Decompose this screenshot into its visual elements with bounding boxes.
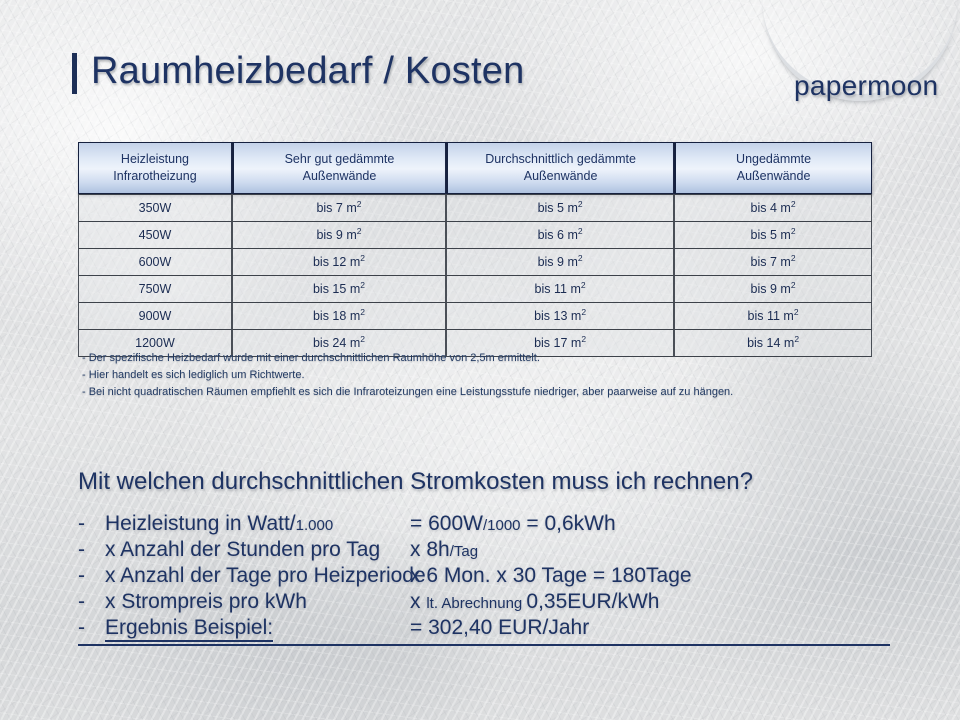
column-header-heizleistung: Heizleistung Infrarotheizung xyxy=(78,142,232,194)
title-accent-bar xyxy=(72,53,77,94)
table-cell-poor: bis 5 m2 xyxy=(674,222,872,249)
column-header-line2: Außenwände xyxy=(452,168,669,185)
bullet-dash: - xyxy=(78,564,105,588)
table-cell-avg: bis 11 m2 xyxy=(446,276,674,303)
bullet-dash: - xyxy=(78,538,105,562)
calculation-value-small: /1000 xyxy=(483,517,521,534)
table-row: 350Wbis 7 m2bis 5 m2bis 4 m2 xyxy=(78,194,872,222)
column-header-durchschnittlich-gedaemmte: Durchschnittlich gedämmte Außenwände xyxy=(446,142,674,194)
table-row: 450Wbis 9 m2bis 6 m2bis 5 m2 xyxy=(78,222,872,249)
calculation-value-small: /Tag xyxy=(450,543,478,560)
table-cell-power: 600W xyxy=(78,249,232,276)
calculation-value-small: lt. Abrechnung xyxy=(426,595,526,612)
calculation-list: -Heizleistung in Watt/1.000= 600W/1000 =… xyxy=(78,512,890,646)
table-row: 900Wbis 18 m2bis 13 m2bis 11 m2 xyxy=(78,303,872,330)
calculation-label: x Strompreis pro kWh xyxy=(105,590,410,614)
calculation-value: x lt. Abrechnung 0,35EUR/kWh xyxy=(410,590,659,614)
column-header-line2: Infrarotheizung xyxy=(83,168,227,185)
table-cell-avg: bis 9 m2 xyxy=(446,249,674,276)
table-body: 350Wbis 7 m2bis 5 m2bis 4 m2450Wbis 9 m2… xyxy=(78,194,872,357)
table-header-row: Heizleistung Infrarotheizung Sehr gut ge… xyxy=(78,142,872,194)
table-cell-good: bis 15 m2 xyxy=(232,276,446,303)
table-cell-good: bis 9 m2 xyxy=(232,222,446,249)
footnote: - Der spezifische Heizbedarf wurde mit e… xyxy=(82,350,872,367)
calculation-label: Ergebnis Beispiel: xyxy=(105,616,410,640)
table-cell-poor: bis 7 m2 xyxy=(674,249,872,276)
table-row: 750Wbis 15 m2bis 11 m2bis 9 m2 xyxy=(78,276,872,303)
table-row: 600Wbis 12 m2bis 9 m2bis 7 m2 xyxy=(78,249,872,276)
bullet-dash: - xyxy=(78,590,105,614)
calculation-value: x 6 Mon. x 30 Tage = 180Tage xyxy=(410,564,692,588)
column-header-line2: Außenwände xyxy=(238,168,441,185)
calculation-row: -Heizleistung in Watt/1.000= 600W/1000 =… xyxy=(78,512,890,538)
bullet-dash: - xyxy=(78,616,105,640)
question-heading: Mit welchen durchschnittlichen Stromkost… xyxy=(78,468,753,496)
calculation-row: -x Anzahl der Tage pro Heizperiodex 6 Mo… xyxy=(78,564,890,590)
table-cell-power: 900W xyxy=(78,303,232,330)
table-cell-poor: bis 11 m2 xyxy=(674,303,872,330)
brand-logo: papermoon xyxy=(770,24,945,120)
calculation-row: -x Anzahl der Stunden pro Tagx 8h/Tag xyxy=(78,538,890,564)
footnote: - Hier handelt es sich lediglich um Rich… xyxy=(82,367,872,384)
footnote: - Bei nicht quadratischen Räumen empfieh… xyxy=(82,384,872,401)
table-cell-avg: bis 13 m2 xyxy=(446,303,674,330)
table-cell-good: bis 7 m2 xyxy=(232,194,446,222)
table-cell-poor: bis 4 m2 xyxy=(674,194,872,222)
footnote-list: - Der spezifische Heizbedarf wurde mit e… xyxy=(82,350,872,401)
column-header-line1: Heizleistung xyxy=(83,151,227,168)
brand-name: papermoon xyxy=(794,70,938,102)
column-header-line1: Ungedämmte xyxy=(680,151,867,168)
calculation-label-small: 1.000 xyxy=(296,517,334,534)
table-cell-avg: bis 6 m2 xyxy=(446,222,674,249)
calculation-value: = 302,40 EUR/Jahr xyxy=(410,616,589,640)
table-cell-power: 350W xyxy=(78,194,232,222)
table-cell-poor: bis 9 m2 xyxy=(674,276,872,303)
page-title-row: Raumheizbedarf / Kosten xyxy=(72,49,524,94)
page-title: Raumheizbedarf / Kosten xyxy=(91,50,524,93)
calculation-row: -Ergebnis Beispiel:= 302,40 EUR/Jahr xyxy=(78,616,890,646)
table-cell-power: 750W xyxy=(78,276,232,303)
column-header-sehr-gut-gedaemmte: Sehr gut gedämmte Außenwände xyxy=(232,142,446,194)
calculation-label: x Anzahl der Tage pro Heizperiode xyxy=(105,564,410,588)
table-cell-good: bis 18 m2 xyxy=(232,303,446,330)
bullet-dash: - xyxy=(78,512,105,536)
calculation-label: Heizleistung in Watt/1.000 xyxy=(105,512,410,536)
column-header-line1: Durchschnittlich gedämmte xyxy=(452,151,669,168)
table-cell-power: 450W xyxy=(78,222,232,249)
column-header-line1: Sehr gut gedämmte xyxy=(238,151,441,168)
column-header-line2: Außenwände xyxy=(680,168,867,185)
calculation-value: = 600W/1000 = 0,6kWh xyxy=(410,512,616,536)
heating-requirement-table: Heizleistung Infrarotheizung Sehr gut ge… xyxy=(78,142,872,357)
calculation-label: x Anzahl der Stunden pro Tag xyxy=(105,538,410,562)
table-cell-avg: bis 5 m2 xyxy=(446,194,674,222)
calculation-value: x 8h/Tag xyxy=(410,538,478,562)
table-cell-good: bis 12 m2 xyxy=(232,249,446,276)
calculation-row: -x Strompreis pro kWhx lt. Abrechnung 0,… xyxy=(78,590,890,616)
column-header-ungedaemmte: Ungedämmte Außenwände xyxy=(674,142,872,194)
